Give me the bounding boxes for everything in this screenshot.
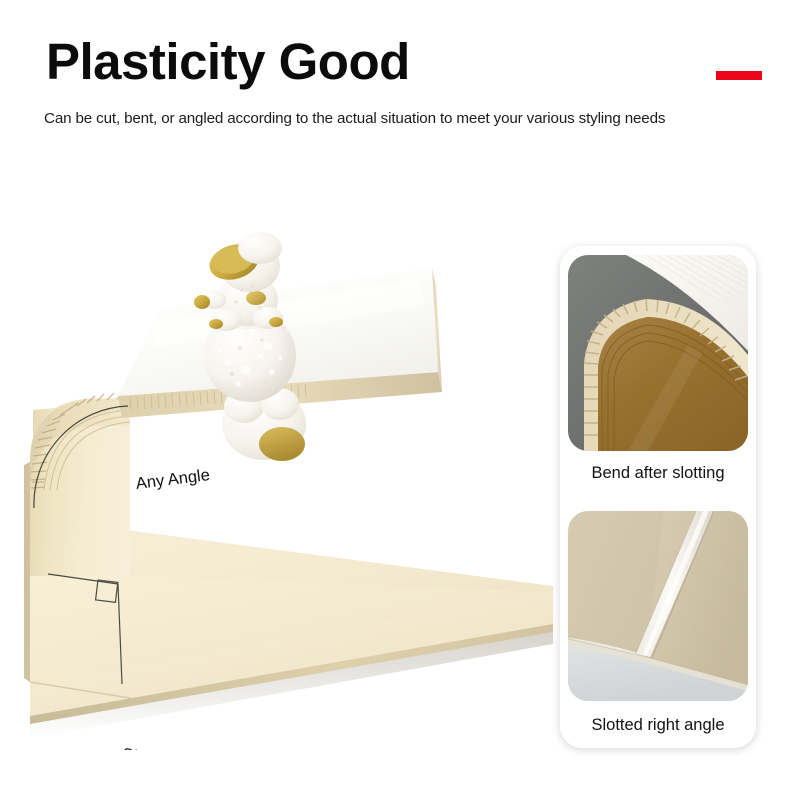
page-title: Plasticity Good <box>46 36 410 87</box>
astronaut-figurine-icon <box>176 228 336 473</box>
header: Plasticity Good Can be cut, bent, or ang… <box>0 0 800 145</box>
bend-after-slotting-image <box>568 255 748 451</box>
page-subtitle: Can be cut, bent, or angled according to… <box>44 110 665 127</box>
slotted-right-angle-image <box>568 511 748 701</box>
detail-card: Bend after slotting <box>560 246 756 748</box>
product-feature-banner: Plasticity Good Can be cut, bent, or ang… <box>0 0 800 800</box>
caption-slotted-right-angle: Slotted right angle <box>560 716 756 735</box>
accent-bar <box>716 71 762 80</box>
caption-bend-after-slotting: Bend after slotting <box>560 464 756 483</box>
tile-slotted-right-angle[interactable] <box>568 511 748 701</box>
tile-bend-after-slotting[interactable] <box>568 255 748 451</box>
hero-product-image: Any Angle Sharp angle,90°right angle <box>0 110 560 750</box>
